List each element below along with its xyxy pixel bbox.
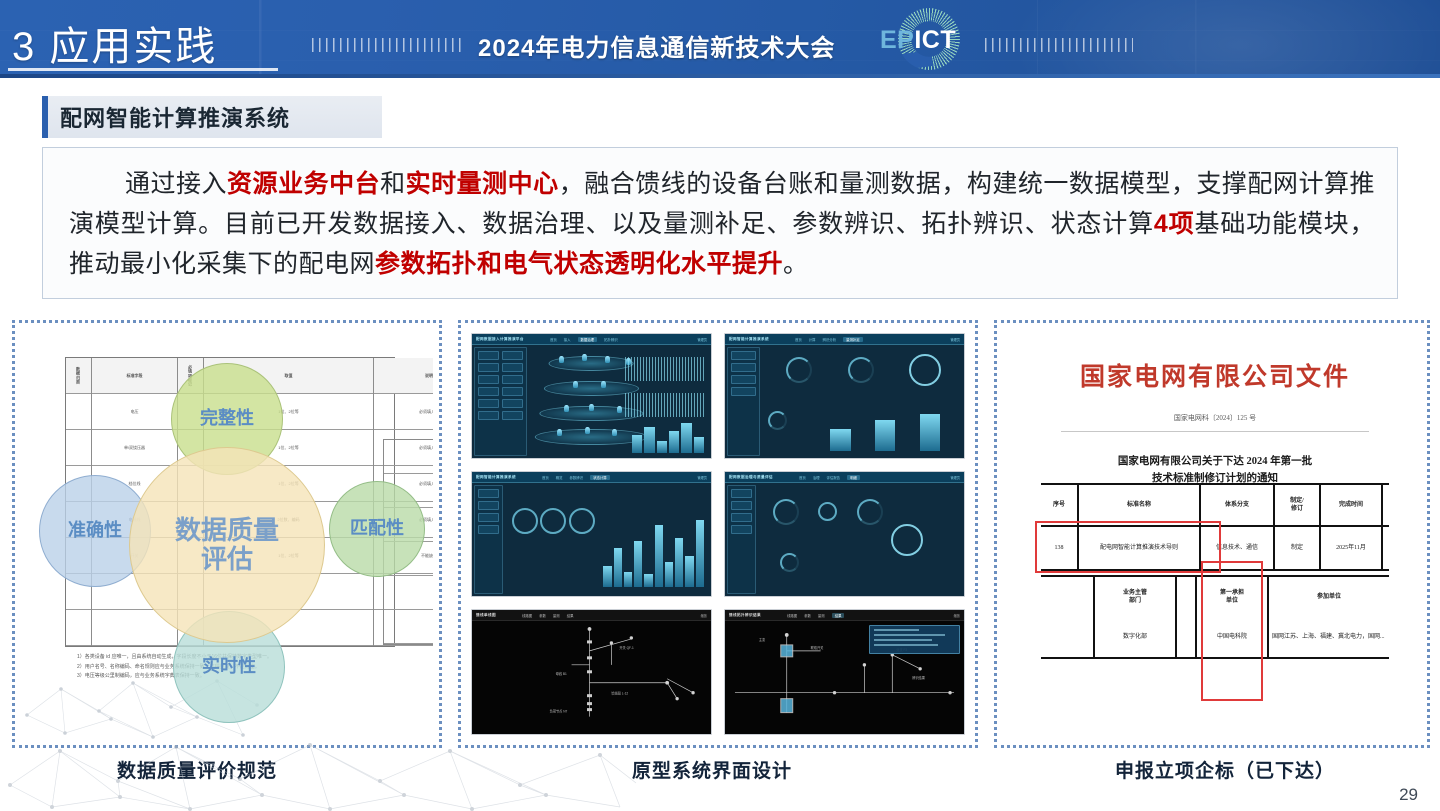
shot-user-label: 管理员 <box>950 337 960 342</box>
desc-highlight-1: 资源业务中台 <box>227 170 380 198</box>
shot-tab[interactable]: 结果 <box>567 613 574 618</box>
epict-logo: EPICT <box>880 26 956 55</box>
document-divider <box>1061 431 1368 432</box>
sidebar-cell[interactable] <box>731 375 756 384</box>
shot-tab[interactable]: 参数 <box>539 613 546 618</box>
shot-body <box>725 345 964 458</box>
table-header-cell <box>1383 485 1389 525</box>
title-underline <box>8 68 278 71</box>
shot-tab[interactable]: 量测 <box>818 613 825 618</box>
highlight-box-standard-name <box>1035 521 1221 573</box>
sidebar-row <box>731 363 756 372</box>
desc-text-5: 。 <box>783 250 809 278</box>
shot-titlebar: 馈线单线图 线路图 参数 量测 结果 缩放 <box>472 610 711 621</box>
shot-tab-active[interactable]: 量测补足 <box>843 337 863 342</box>
sidebar-cell[interactable] <box>478 501 499 510</box>
shot-tabs: 线路图 参数 量测 结果 <box>522 613 574 618</box>
sidebar-row <box>731 489 752 498</box>
sidebar-row <box>478 501 499 510</box>
sidebar-cell[interactable] <box>502 387 523 396</box>
desc-highlight-2: 实时量测中心 <box>406 170 559 198</box>
shot-body: 主变 联络开关 分支 F3 辨识结果 <box>725 621 964 734</box>
gauge-ring <box>857 499 883 525</box>
shot-sidebar <box>727 485 756 594</box>
table-cell-type: 制定 <box>1275 527 1321 569</box>
shot-sidebar <box>474 485 503 594</box>
sidebar-cell[interactable] <box>478 489 499 498</box>
shot-title: 配网数据接入计算推演平台 <box>476 337 524 342</box>
tick-marks-right-icon <box>985 38 1133 52</box>
table-header-cell: 参加单位 <box>1269 577 1389 617</box>
shot-tab-active[interactable]: 数据治理 <box>578 337 598 342</box>
shot-tab[interactable]: 首页 <box>795 337 802 342</box>
table-cell <box>384 440 433 474</box>
panel-prototype-ui: 配网数据接入计算推演平台 首页 接入 数据治理 拓扑辨识 管理员 <box>458 320 978 748</box>
shot-tabs: 首页 接入 数据治理 拓扑辨识 <box>550 337 618 342</box>
table-cell <box>1177 617 1197 657</box>
shot-titlebar: 馈线拓扑辨识结果 线路图 参数 量测 结果 缩放 <box>725 610 964 621</box>
table-cell <box>384 610 433 644</box>
shot-tabs: 线路图 参数 量测 结果 <box>787 613 845 618</box>
table-cell: 单/双绕压器 <box>92 430 177 466</box>
table-header-cell: 数据 归类 <box>66 358 91 394</box>
shot-tabs: 首页 计算 辨识分析 量测补足 <box>795 337 863 342</box>
sidebar-row <box>478 489 499 498</box>
shot-tab[interactable]: 首页 <box>542 475 549 480</box>
page-header: 3 应用实践 2024年电力信息通信新技术大会 EPICT <box>0 0 1440 78</box>
gauge-ring <box>540 508 566 534</box>
shot-tabs: 首页 概览 参数辨识 状态计算 <box>542 475 610 480</box>
tick-marks-left-icon <box>312 38 462 52</box>
subtitle-banner: 配网智能计算推演系统 <box>42 96 382 138</box>
shot-tab-active[interactable]: 结果 <box>832 613 845 618</box>
document-number: 国家电网科〔2024〕125 号 <box>1023 413 1407 423</box>
shot-title: 馈线单线图 <box>476 613 496 618</box>
table-cell: 电压 <box>92 394 177 430</box>
sidebar-cell[interactable] <box>731 387 756 396</box>
shot-sidebar <box>474 347 527 456</box>
shot-user-label: 管理员 <box>950 475 960 480</box>
sidebar-row <box>478 525 499 534</box>
table-header-cell: 业务主管 部门 <box>1095 577 1177 617</box>
pyramid-node <box>557 429 562 436</box>
pyramid-node <box>601 381 606 388</box>
table-cell-participants: 国网江苏、上海、福建、冀北电力，国网... <box>1269 617 1389 657</box>
sidebar-cell[interactable] <box>502 399 523 408</box>
table-header-cell <box>1041 577 1095 617</box>
page-number: 29 <box>1399 785 1418 805</box>
desc-text-1: 通过接入 <box>125 170 227 198</box>
sidebar-row <box>478 363 523 372</box>
sidebar-cell[interactable] <box>502 411 523 420</box>
gauge-row-secondary <box>864 524 950 556</box>
sidebar-row <box>731 525 752 534</box>
shot-info-popup[interactable] <box>869 625 960 654</box>
svg-text:主变: 主变 <box>759 637 766 642</box>
shot-tab[interactable]: 首页 <box>550 337 557 342</box>
sidebar-cell[interactable] <box>478 375 499 384</box>
shot-zoom-label: 缩放 <box>954 613 960 618</box>
table-header-cell: 序号 <box>1041 485 1079 525</box>
shot-body <box>472 483 711 596</box>
sidebar-row <box>478 399 523 408</box>
gauge-ring <box>773 499 799 525</box>
gauge-row <box>768 354 959 386</box>
caption-right: 申报立项企标（已下达） <box>1115 756 1335 783</box>
pyramid-node <box>559 356 564 363</box>
shot-user-label: 管理员 <box>697 475 707 480</box>
table-cell <box>1041 617 1095 657</box>
document-title: 国家电网有限公司文件 <box>1023 357 1407 393</box>
svg-text:母线 B1: 母线 B1 <box>556 671 567 676</box>
table-cell-tail <box>1383 527 1389 569</box>
conference-title: 2024年电力信息通信新技术大会 <box>478 28 835 63</box>
table-header-cell: 完成时间 <box>1321 485 1383 525</box>
shot-tab-active[interactable]: 明细 <box>847 475 860 480</box>
shot-titlebar: 配网数据治理与质量评估 首页 治理 评估报告 明细 管理员 <box>725 472 964 483</box>
table-cell <box>66 430 91 466</box>
sidebar-row <box>478 387 523 396</box>
table-header-cell: 标准名称 <box>1079 485 1201 525</box>
shot-tab[interactable]: 计算 <box>809 337 816 342</box>
shot-titlebar: 配网智能计算推演系统 首页 概览 参数辨识 状态计算 管理员 <box>472 472 711 483</box>
subtitle-label: 配网智能计算推演系统 <box>48 101 290 133</box>
shot-bar-chart <box>632 422 704 454</box>
pyramid-node <box>589 404 594 411</box>
shot-tab[interactable]: 线路图 <box>787 613 797 618</box>
official-document: 国家电网有限公司文件 国家电网科〔2024〕125 号 国家电网有限公司关于下达… <box>1023 335 1407 737</box>
pyramid-node <box>617 406 622 413</box>
shot-tabs: 首页 治理 评估报告 明细 <box>799 475 860 480</box>
sidebar-cell[interactable] <box>478 513 499 522</box>
sidebar-cell[interactable] <box>502 375 523 384</box>
sidebar-row <box>478 351 523 360</box>
shot-topology-overview[interactable]: 配网数据接入计算推演平台 首页 接入 数据治理 拓扑辨识 管理员 <box>471 333 712 459</box>
shot-tab[interactable]: 概览 <box>556 475 563 480</box>
sidebar-row <box>731 513 752 522</box>
shot-single-line-diagram-2[interactable]: 馈线拓扑辨识结果 线路图 参数 量测 结果 缩放 <box>724 609 965 735</box>
shot-tab[interactable]: 参数辨识 <box>570 475 584 480</box>
table-header-cell <box>1177 577 1197 617</box>
sidebar-cell[interactable] <box>731 489 752 498</box>
panel-standard-filing: 国家电网有限公司文件 国家电网科〔2024〕125 号 国家电网有限公司关于下达… <box>994 320 1430 748</box>
pyramid-node <box>612 429 617 436</box>
sidebar-cell[interactable] <box>478 387 499 396</box>
sidebar-cell[interactable] <box>731 363 756 372</box>
venn-diagram: 数据 归类 标准字段 电压 单/双绕压器 档位线 电源线 开关 必填 <box>21 329 433 739</box>
table-cell <box>66 394 91 430</box>
gauge-row <box>510 508 596 534</box>
screenshot-grid: 配网数据接入计算推演平台 首页 接入 数据治理 拓扑辨识 管理员 <box>471 333 965 735</box>
shot-body <box>725 483 964 596</box>
table-cell: 必须填入全 <box>374 394 433 430</box>
desc-highlight-3: 4项 <box>1154 210 1195 238</box>
table-cell-department: 数字化部 <box>1095 617 1177 657</box>
shot-tab[interactable]: 量测 <box>553 613 560 618</box>
shot-tab[interactable]: 评估报告 <box>827 475 841 480</box>
gauge-row-tertiary <box>763 553 816 572</box>
page-title: 3 应用实践 <box>12 14 217 72</box>
sidebar-cell[interactable] <box>478 399 499 408</box>
sidebar-row <box>731 351 756 360</box>
epict-logo-suffix: ICT <box>914 26 956 54</box>
pyramid-node <box>605 356 610 363</box>
table-cell-time: 2025年11月 <box>1321 527 1383 569</box>
shot-tab-active[interactable]: 状态计算 <box>590 475 610 480</box>
shot-tab[interactable]: 接入 <box>564 337 571 342</box>
venn-circle-matching: 匹配性 <box>329 481 425 577</box>
sidebar-cell[interactable] <box>478 411 499 420</box>
shot-sidebar <box>727 347 760 456</box>
caption-middle: 原型系统界面设计 <box>632 756 792 783</box>
venn-circle-center: 数据质量 评估 <box>129 447 325 643</box>
highlight-box-lead-unit <box>1201 561 1263 701</box>
gauge-ring <box>848 357 874 383</box>
shot-sparkline-chart <box>625 388 704 417</box>
shot-tab[interactable]: 首页 <box>799 475 806 480</box>
sidebar-cell[interactable] <box>731 513 752 522</box>
gauge-ring <box>818 502 837 521</box>
table-header-cell: 说明 <box>374 358 433 394</box>
sidebar-row <box>478 375 523 384</box>
sidebar-cell[interactable] <box>731 351 756 360</box>
table-header-cell: 标准字段 <box>92 358 177 394</box>
gauge-ring <box>891 524 923 556</box>
gauge-row <box>763 499 892 525</box>
description-paragraph: 通过接入资源业务中台和实时量测中心，融合馈线的设备台账和量测数据，构建统一数据模… <box>69 164 1375 284</box>
desc-text-2: 和 <box>380 170 406 198</box>
shot-state-estimation[interactable]: 配网智能计算推演系统 首页 计算 辨识分析 量测补足 管理员 <box>724 333 965 459</box>
shot-titlebar: 配网数据接入计算推演平台 首页 接入 数据治理 拓扑辨识 管理员 <box>472 334 711 345</box>
shot-sparkline-chart <box>625 352 704 381</box>
shot-title: 配网智能计算推演系统 <box>476 475 516 480</box>
shot-title: 配网数据治理与质量评估 <box>729 475 773 480</box>
pyramid-node <box>573 381 578 388</box>
sidebar-cell[interactable] <box>502 363 523 372</box>
sidebar-row <box>731 501 752 510</box>
shot-parameter-identification[interactable]: 配网智能计算推演系统 首页 概览 参数辨识 状态计算 管理员 <box>471 471 712 597</box>
sidebar-cell[interactable] <box>502 351 523 360</box>
sidebar-cell[interactable] <box>478 351 499 360</box>
description-box: 通过接入资源业务中台和实时量测中心，融合馈线的设备台账和量测数据，构建统一数据模… <box>42 147 1398 299</box>
shot-bar-chart <box>603 517 703 587</box>
shot-body <box>472 345 711 458</box>
sidebar-cell[interactable] <box>478 363 499 372</box>
sidebar-row <box>731 387 756 396</box>
sidebar-row <box>731 375 756 384</box>
svg-text:馈线段 L-12: 馈线段 L-12 <box>611 691 628 696</box>
shot-titlebar: 配网智能计算推演系统 首页 计算 辨识分析 量测补足 管理员 <box>725 334 964 345</box>
gauge-ring <box>569 508 595 534</box>
table-cell <box>384 576 433 610</box>
gauge-ring <box>768 411 787 430</box>
shot-bar-chart <box>830 411 940 452</box>
sidebar-cell[interactable] <box>731 525 752 534</box>
footer-network-decoration <box>0 701 640 811</box>
svg-text:辨识结果: 辨识结果 <box>912 675 926 680</box>
gauge-ring <box>909 354 941 386</box>
sidebar-row <box>478 411 523 420</box>
svg-text:联络开关: 联络开关 <box>811 645 825 650</box>
shot-tab[interactable]: 拓扑辨识 <box>604 337 618 342</box>
shot-tab[interactable]: 治理 <box>813 475 820 480</box>
sidebar-row <box>478 513 499 522</box>
gauge-ring <box>786 357 812 383</box>
pyramid-node <box>582 354 587 361</box>
shot-tab[interactable]: 线路图 <box>522 613 532 618</box>
pyramid-node <box>585 427 590 434</box>
shot-tab[interactable]: 辨识分析 <box>823 337 837 342</box>
shot-zoom-label: 缩放 <box>701 613 707 618</box>
pyramid-tier <box>535 429 647 446</box>
shot-title: 馈线拓扑辨识结果 <box>729 613 761 618</box>
svg-text:开关 QF-1: 开关 QF-1 <box>619 645 634 650</box>
gauge-ring <box>780 553 799 572</box>
shot-user-label: 管理员 <box>697 337 707 342</box>
shot-data-governance[interactable]: 配网数据治理与质量评估 首页 治理 评估报告 明细 管理员 <box>724 471 965 597</box>
epict-logo-prefix: EP <box>880 26 914 54</box>
panel-data-quality-spec: 数据 归类 标准字段 电压 单/双绕压器 档位线 电源线 开关 必填 <box>12 320 442 748</box>
shot-tab[interactable]: 参数 <box>804 613 811 618</box>
pyramid-node <box>564 405 569 412</box>
sidebar-cell[interactable] <box>731 501 752 510</box>
gauge-ring <box>512 508 538 534</box>
desc-highlight-4: 参数拓扑和电气状态透明化水平提升 <box>375 250 783 278</box>
shot-title: 配网智能计算推演系统 <box>729 337 769 342</box>
table-header-cell: 制定/ 修订 <box>1275 485 1321 525</box>
sidebar-cell[interactable] <box>478 525 499 534</box>
table-header-cell: 体系分支 <box>1201 485 1275 525</box>
